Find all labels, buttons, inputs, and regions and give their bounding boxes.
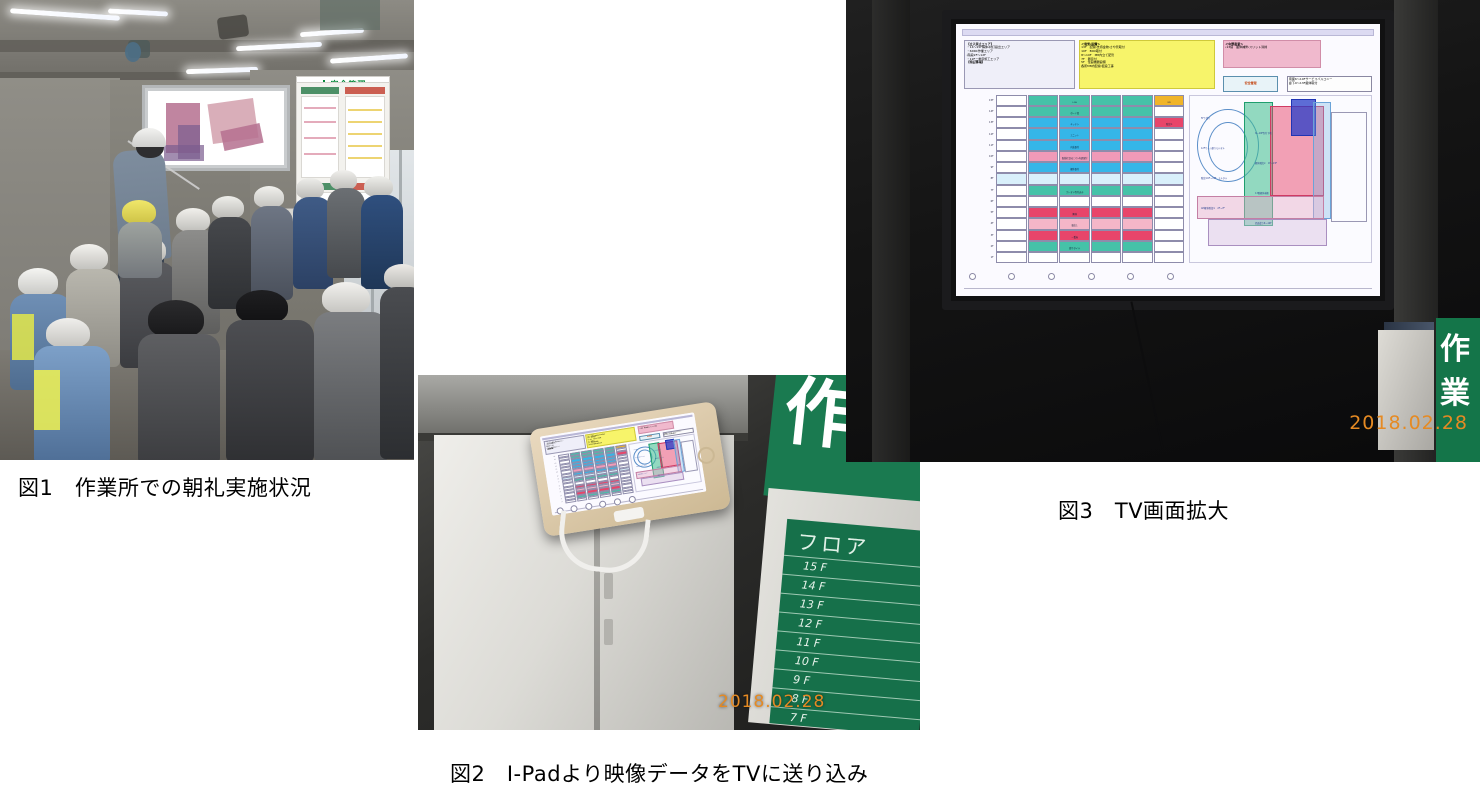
schedule-floor-label: 15F	[965, 95, 996, 106]
plan-annotation: 6〜10F吹付下地	[1255, 131, 1271, 135]
schedule-cell	[1028, 185, 1059, 196]
pillar-left	[872, 0, 910, 462]
plan-drawing: 5F下塗り6〜10F吹付下地12Fサッシ廻りモルタル躯体階段① 1F〜13F階段…	[628, 433, 702, 492]
figure-1-morning-meeting-photo: 安全管理	[0, 0, 414, 460]
schedule-cell	[1028, 230, 1059, 241]
schedule-row: 11F内装取付	[964, 140, 1184, 151]
worker	[46, 318, 116, 460]
schedule-cell	[996, 95, 1027, 106]
date-stamp: 2018.02.28	[718, 692, 825, 712]
schedule-floor-label: 10F	[965, 151, 996, 162]
schedule-cell	[996, 230, 1027, 241]
schedule-cell	[1122, 196, 1153, 207]
schedule-cell	[1028, 196, 1059, 207]
schedule-cell	[1154, 140, 1185, 151]
plan-annotation: 西面塗り6〜14F	[1255, 221, 1271, 225]
schedule-cell	[1091, 252, 1122, 263]
schedule-cell	[1028, 162, 1059, 173]
plan-drawing: 5F下塗り6〜10F吹付下地12Fサッシ廻りモルタル躯体階段① 1F〜13F階段…	[1189, 95, 1371, 264]
ceiling-sheet	[320, 0, 380, 30]
schedule-floor-label: 2F	[965, 241, 996, 252]
schedule-grid: 15FLGSWD14Fボード張13Fキッチン階段②12Fユニット11F内装取付1…	[964, 95, 1184, 264]
wall-monitor-screen	[148, 91, 284, 165]
column-marker	[1167, 273, 1174, 280]
schedule-cell	[1028, 128, 1059, 139]
schedule-cell	[996, 241, 1027, 252]
schedule-cell: 躯体取付	[1059, 162, 1090, 173]
schedule-cell	[1091, 140, 1122, 151]
schedule-floor-label: 14F	[965, 106, 996, 117]
schedule-cell	[996, 117, 1027, 128]
ceiling-duct	[217, 14, 250, 40]
schedule-cell	[1122, 117, 1153, 128]
plan-annotation: 躯体階段① 1F〜13F	[1255, 161, 1277, 165]
slide-block-restricted: 【立入禁止エリア】・14〜15F解体・材打設出エリア・6DRC作業エリア・階段2…	[964, 40, 1074, 89]
slide-block-heading: 安全管理	[1245, 82, 1257, 86]
schedule-row: 1F	[964, 252, 1184, 263]
column-marker	[1048, 273, 1055, 280]
schedule-row: 15FLGSWD	[964, 95, 1184, 106]
schedule-cell	[1122, 173, 1153, 184]
ceiling-beam	[0, 40, 414, 52]
schedule-cell	[1122, 230, 1153, 241]
schedule-floor-label: 6F	[965, 196, 996, 207]
slide-block-heading: 安全管理	[647, 436, 652, 438]
slide-block-balcony: 南面6〜10Fサービスバルコニー廊下9〜13F躯体取付	[1287, 76, 1372, 92]
schedule-floor-label: 13F	[965, 117, 996, 128]
ipad-screen[interactable]: 【立入禁止エリア】・14〜15F解体・材打設出エリア・6DRC作業エリア・階段2…	[540, 412, 707, 515]
schedule-cell	[996, 173, 1027, 184]
schedule-row: 4F墨出し	[964, 218, 1184, 229]
slide-block-line: 各所M8内配線・仮設工事	[1081, 65, 1212, 69]
schedule-cell	[996, 128, 1027, 139]
plan-annotation: 5F下塗り	[1201, 116, 1210, 120]
schedule-cell	[1122, 241, 1153, 252]
schedule-cell	[600, 493, 611, 498]
schedule-floor-label: 11F	[965, 140, 996, 151]
slide-footer-line	[964, 288, 1371, 289]
schedule-cell: ウレタン吹付込み	[1059, 185, 1090, 196]
slide-block-nakano: ＜中野産業＞・13階 躯体補修・スリット清掃	[1223, 40, 1321, 67]
slide-top-bar	[962, 29, 1373, 36]
plan-shape	[1331, 112, 1367, 222]
schedule-cell	[1028, 151, 1059, 162]
schedule-cell	[1122, 207, 1153, 218]
date-stamp: 2018.02.28	[1349, 412, 1468, 434]
slide-block-footer: 【特記事項】	[547, 449, 555, 451]
schedule-cell	[1028, 207, 1059, 218]
schedule-cell	[996, 106, 1027, 117]
schedule-cell: 一重床	[1059, 230, 1090, 241]
schedule-floor-label: 3F	[965, 230, 996, 241]
plan-annotation: AM躯体階段② 2F〜7F	[1201, 206, 1225, 210]
column-marker	[614, 498, 622, 506]
schedule-row: 2F廊下タイル	[964, 241, 1184, 252]
schedule-cell	[996, 151, 1027, 162]
schedule-cell	[1091, 117, 1122, 128]
schedule-cell	[1028, 106, 1059, 117]
board-sheet	[301, 96, 339, 178]
schedule-grid: 15FLGSWD14Fボード張13Fキッチン階段②12Fユニット11F内装取付1…	[546, 444, 634, 506]
schedule-cell	[588, 495, 599, 500]
schedule-cell	[1154, 173, 1185, 184]
hanging-bucket	[125, 42, 141, 62]
schedule-cell	[1059, 173, 1090, 184]
schedule-cell: 解体	[1059, 207, 1090, 218]
schedule-cell	[1154, 162, 1185, 173]
schedule-cell	[1154, 196, 1185, 207]
plan-annotation: 階段②6F〜12F モルタル	[1201, 176, 1227, 180]
schedule-row: 12Fユニット	[964, 128, 1184, 139]
schedule-cell	[1122, 185, 1153, 196]
schedule-cell: 配筋打設・はつり・内部取付	[1059, 151, 1090, 162]
schedule-cell: 墨出し	[1059, 218, 1090, 229]
column-marker	[599, 500, 607, 508]
plan-annotation: 12Fサッシ廻りモルタル	[1201, 146, 1225, 150]
cabinet-slot	[604, 573, 613, 599]
worker	[148, 300, 228, 460]
schedule-floor-label: 4F	[965, 218, 996, 229]
schedule-cell: 廊下タイル	[1059, 241, 1090, 252]
schedule-cell	[1028, 218, 1059, 229]
figure-1-caption: 図1 作業所での朝礼実施状況	[18, 472, 311, 502]
schedule-row: 6F	[964, 196, 1184, 207]
schedule-cell	[1091, 196, 1122, 207]
schedule-cell	[1028, 95, 1059, 106]
schedule-row: 5F解体	[964, 207, 1184, 218]
schedule-cell	[1154, 185, 1185, 196]
worker	[384, 264, 414, 460]
schedule-floor-label: 5F	[965, 207, 996, 218]
schedule-row: 8F	[964, 173, 1184, 184]
schedule-cell	[1028, 140, 1059, 151]
schedule-row: 10F配筋打設・はつり・内部取付	[964, 151, 1184, 162]
slide-block-safety: 安全管理	[1223, 76, 1278, 92]
schedule-cell	[1028, 252, 1059, 263]
schedule-cell	[1091, 207, 1122, 218]
schedule-cell	[996, 140, 1027, 151]
column-marker	[1008, 273, 1015, 280]
schedule-cell	[1028, 241, 1059, 252]
schedule-cell	[1091, 241, 1122, 252]
schedule-cell	[1122, 151, 1153, 162]
schedule-cell	[1091, 151, 1122, 162]
schedule-floor-label: 7F	[965, 185, 996, 196]
tv-slide-content: 【立入禁止エリア】・14〜15F解体・材打設出エリア・6DRC作業エリア・階段2…	[956, 24, 1380, 296]
schedule-floor-label: 1F	[965, 252, 996, 263]
schedule-cell	[1091, 230, 1122, 241]
schedule-cell: ボード張	[1059, 106, 1090, 117]
column-marker	[585, 503, 593, 511]
schedule-row: 9F躯体取付	[964, 162, 1184, 173]
column-marker	[628, 496, 636, 504]
cabinet-slot	[604, 619, 613, 645]
schedule-cell	[577, 497, 588, 502]
schedule-cell	[1091, 128, 1122, 139]
schedule-row: 13Fキッチン階段②	[964, 117, 1184, 128]
schedule-cell	[996, 162, 1027, 173]
schedule-cell	[1154, 151, 1185, 162]
column-marker	[1088, 273, 1095, 280]
schedule-cell	[1154, 252, 1185, 263]
schedule-row: 3F一重床	[964, 230, 1184, 241]
plan-column-markers	[969, 273, 1189, 287]
schedule-cell	[996, 196, 1027, 207]
schedule-cell	[1154, 241, 1185, 252]
schedule-cell	[1154, 128, 1185, 139]
schedule-cell	[1122, 128, 1153, 139]
figure-2-caption: 図2 I-Padより映像データをTVに送り込み	[450, 758, 868, 788]
schedule-cell	[1028, 117, 1059, 128]
schedule-cell	[1154, 218, 1185, 229]
schedule-floor-label: 12F	[965, 128, 996, 139]
schedule-cell	[1122, 95, 1153, 106]
schedule-cell	[996, 185, 1027, 196]
schedule-cell	[996, 252, 1027, 263]
schedule-cell	[1059, 196, 1090, 207]
schedule-cell: キッチン	[1059, 117, 1090, 128]
slide-block-footer: 【特記事項】	[967, 60, 985, 64]
ipad-slide-content: 【立入禁止エリア】・14〜15F解体・材打設出エリア・6DRC作業エリア・階段2…	[540, 412, 707, 515]
schedule-cell	[1122, 106, 1153, 117]
worker	[236, 290, 322, 460]
schedule-cell	[1154, 230, 1185, 241]
schedule-cell: WD	[1154, 95, 1185, 106]
slide-block-line: ・13階 躯体補修・スリット清掃	[1225, 46, 1318, 50]
worker	[254, 186, 296, 298]
schedule-cell	[1154, 207, 1185, 218]
schedule-cell	[1122, 218, 1153, 229]
schedule-row: 7Fウレタン吹付込み	[964, 185, 1184, 196]
schedule-cell: 内装取付	[1059, 140, 1090, 151]
tv-screen: 【立入禁止エリア】・14〜15F解体・材打設出エリア・6DRC作業エリア・階段2…	[956, 24, 1380, 296]
schedule-cell	[996, 218, 1027, 229]
schedule-cell	[1122, 162, 1153, 173]
slide-block-electrical: ＜電気・設備＞13F 配線・支持金物・さや管取付10F BOX取付8〜10F M…	[1079, 40, 1215, 89]
schedule-cell	[1091, 185, 1122, 196]
green-sign-board: 作業	[1436, 318, 1480, 462]
green-sign-text: 作業	[1440, 324, 1480, 412]
schedule-cell	[1122, 252, 1153, 263]
column-marker	[969, 273, 976, 280]
schedule-row: 14Fボード張	[964, 106, 1184, 117]
schedule-floor-label: 8F	[965, 173, 996, 184]
schedule-cell	[1154, 106, 1185, 117]
schedule-cell	[565, 499, 576, 504]
schedule-cell	[1091, 173, 1122, 184]
schedule-cell: LGS	[1059, 95, 1090, 106]
schedule-cell: ユニット	[1059, 128, 1090, 139]
schedule-cell	[611, 492, 622, 497]
schedule-floor-label: 9F	[965, 162, 996, 173]
schedule-cell: 階段②	[1154, 117, 1185, 128]
schedule-cell	[1028, 173, 1059, 184]
plan-annotation: 13階躯体補修	[1255, 191, 1269, 195]
figure-3-caption: 図3 TV画面拡大	[1058, 495, 1229, 525]
board-sheet	[345, 96, 385, 178]
schedule-cell	[1122, 140, 1153, 151]
schedule-cell	[623, 490, 634, 495]
schedule-cell	[1091, 162, 1122, 173]
schedule-cell	[1091, 106, 1122, 117]
schedule-cell	[1091, 218, 1122, 229]
schedule-cell	[996, 207, 1027, 218]
figure-2-ipad-photo: 【立入禁止エリア】・14〜15F解体・材打設出エリア・6DRC作業エリア・階段2…	[418, 375, 920, 730]
schedule-cell	[1091, 95, 1122, 106]
worker	[122, 200, 168, 260]
figure-3-tv-photo: 【立入禁止エリア】・14〜15F解体・材打設出エリア・6DRC作業エリア・階段2…	[846, 0, 1480, 462]
slide-block-line: 廊下9〜13F躯体取付	[1289, 82, 1369, 86]
column-marker	[1127, 273, 1134, 280]
schedule-floor-label: 1F	[554, 501, 565, 506]
schedule-cell	[1059, 252, 1090, 263]
